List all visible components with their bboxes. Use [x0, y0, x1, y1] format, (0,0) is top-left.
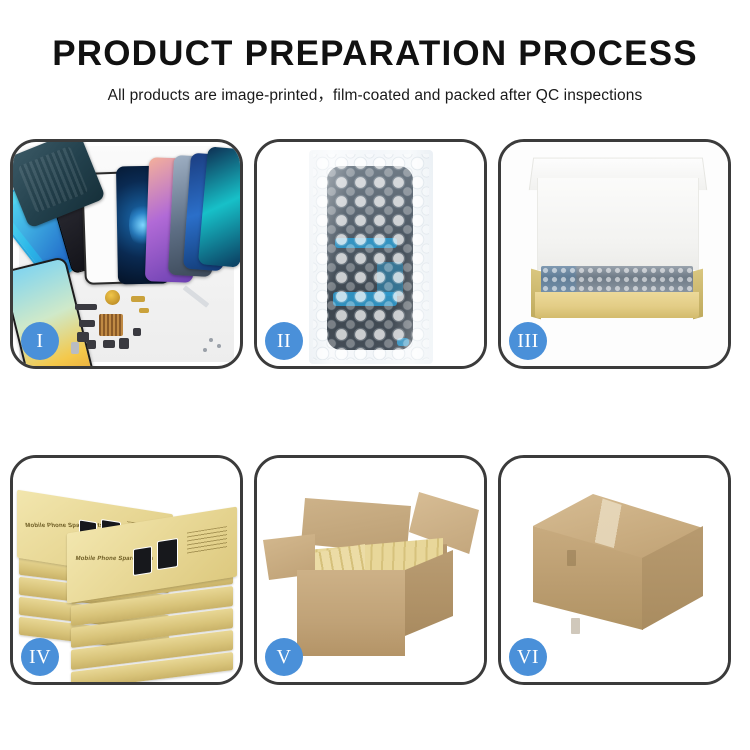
- step-badge-5: V: [265, 638, 303, 676]
- process-step-grid: I II: [10, 139, 742, 687]
- step-badge-1: I: [21, 322, 59, 360]
- step-badge-3: III: [509, 322, 547, 360]
- carton-seam-lower: [571, 618, 580, 634]
- step-panel-6: VI: [498, 455, 731, 685]
- inner-box-front-wall: [535, 292, 699, 318]
- camera-module-part: [79, 320, 95, 327]
- earpiece-part: [103, 340, 115, 348]
- battery-connector-part: [119, 338, 129, 349]
- step-badge-2: II: [265, 322, 303, 360]
- screw-part-a: [209, 338, 213, 342]
- step-panel-2: II: [254, 139, 487, 369]
- logic-board-part: [99, 314, 123, 336]
- vibrator-part: [87, 340, 96, 349]
- film-gloss-highlight: [309, 150, 433, 364]
- box-spec-lines-front: [187, 526, 227, 554]
- speaker-module-part: [105, 290, 120, 305]
- product-preparation-infographic: PRODUCT PREPARATION PROCESS All products…: [0, 0, 750, 750]
- inner-box-foam-lining: [537, 178, 699, 270]
- page-title: PRODUCT PREPARATION PROCESS: [0, 34, 750, 74]
- metal-bracket-part: [71, 342, 79, 354]
- box-window-front-a: [133, 546, 152, 576]
- header: PRODUCT PREPARATION PROCESS All products…: [0, 34, 750, 105]
- screw-part-b: [217, 344, 221, 348]
- wrapped-screens-in-box: [541, 266, 693, 294]
- step-panel-5: V: [254, 455, 487, 685]
- step-panel-4: Mobile Phone Spare Parts Mobile Phone Sp…: [10, 455, 243, 685]
- gold-contact-part: [139, 308, 149, 313]
- step-badge-6: VI: [509, 638, 547, 676]
- flex-cable-part: [75, 304, 97, 310]
- step-badge-4: IV: [21, 638, 59, 676]
- carton-front-face: [297, 570, 405, 656]
- page-subtitle: All products are image-printed，film-coat…: [0, 83, 750, 105]
- gold-connector-part: [131, 296, 145, 302]
- carton-seam-upper: [567, 550, 576, 566]
- button-part: [133, 328, 141, 336]
- box-window-front-b: [157, 538, 178, 570]
- step-panel-1: I: [10, 139, 243, 369]
- screw-part-c: [203, 348, 207, 352]
- step-panel-3: III: [498, 139, 731, 369]
